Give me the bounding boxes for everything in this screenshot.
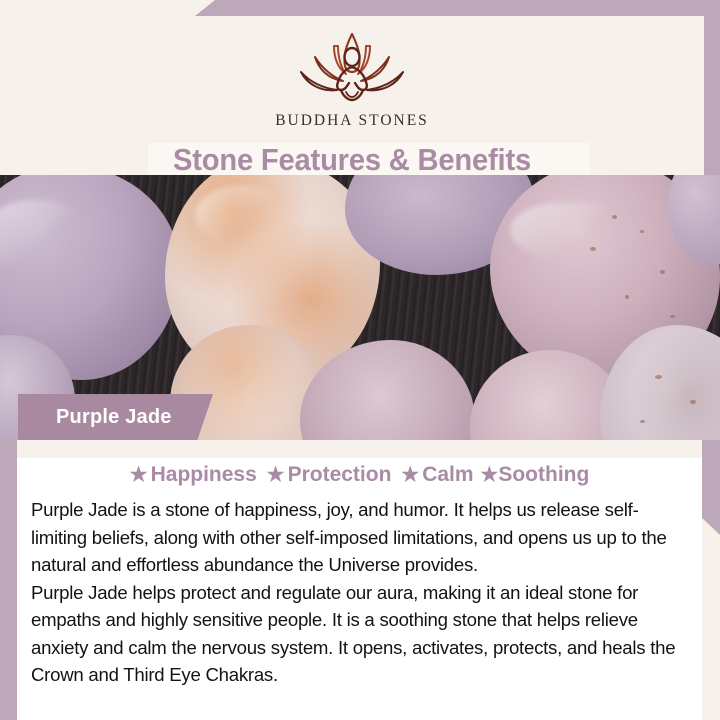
description-paragraph-2: Purple Jade helps protect and regulate o… [31,579,691,689]
benefit-label: Calm [422,463,473,486]
benefit-item: ★Soothing [480,462,589,487]
header: BUDDHA STONES Stone Features & Benefits [0,16,704,175]
star-icon: ★ [267,464,285,486]
brand-logo: BUDDHA STONES [0,24,704,130]
left-decorative-strip [0,440,17,720]
benefit-item: ★Protection [267,462,392,487]
star-icon: ★ [401,464,419,486]
stone-speck [625,295,629,299]
star-icon: ★ [130,464,148,486]
stone-speck [590,247,596,251]
star-icon: ★ [480,464,498,486]
product-info-page: BUDDHA STONES Stone Features & Benefits [0,0,720,720]
stone-speck [655,375,662,379]
right-decorative-strip-lower [702,440,720,535]
benefit-item: ★Calm [401,462,473,487]
stone-speck [670,315,675,318]
brand-name: BUDDHA STONES [0,112,704,130]
description: Purple Jade is a stone of happiness, joy… [31,496,691,689]
lotus-meditation-logo-icon [277,24,427,110]
stone-speck [660,270,665,274]
benefits-list: ★Happiness ★Protection ★Calm ★Soothing [17,462,702,487]
stone-speck [690,400,696,404]
product-photo: Purple Jade [0,175,720,440]
stone-highlight [195,185,290,245]
benefit-label: Protection [288,463,392,486]
description-paragraph-1: Purple Jade is a stone of happiness, joy… [31,496,691,579]
content-panel: ★Happiness ★Protection ★Calm ★Soothing P… [17,458,702,720]
stone-speck [640,230,644,233]
benefit-label: Soothing [498,463,589,486]
separator-band [17,440,702,458]
page-title: Stone Features & Benefits [21,142,683,178]
benefit-item: ★Happiness [130,462,257,487]
stone-name-label: Purple Jade [18,406,172,429]
stone-speck [640,420,645,423]
stone-speck [612,215,617,219]
stone-highlight [510,203,630,258]
right-decorative-strip-upper [704,0,720,175]
stone-name-banner: Purple Jade [18,394,213,440]
top-decorative-band [195,0,720,16]
benefit-label: Happiness [151,463,257,486]
